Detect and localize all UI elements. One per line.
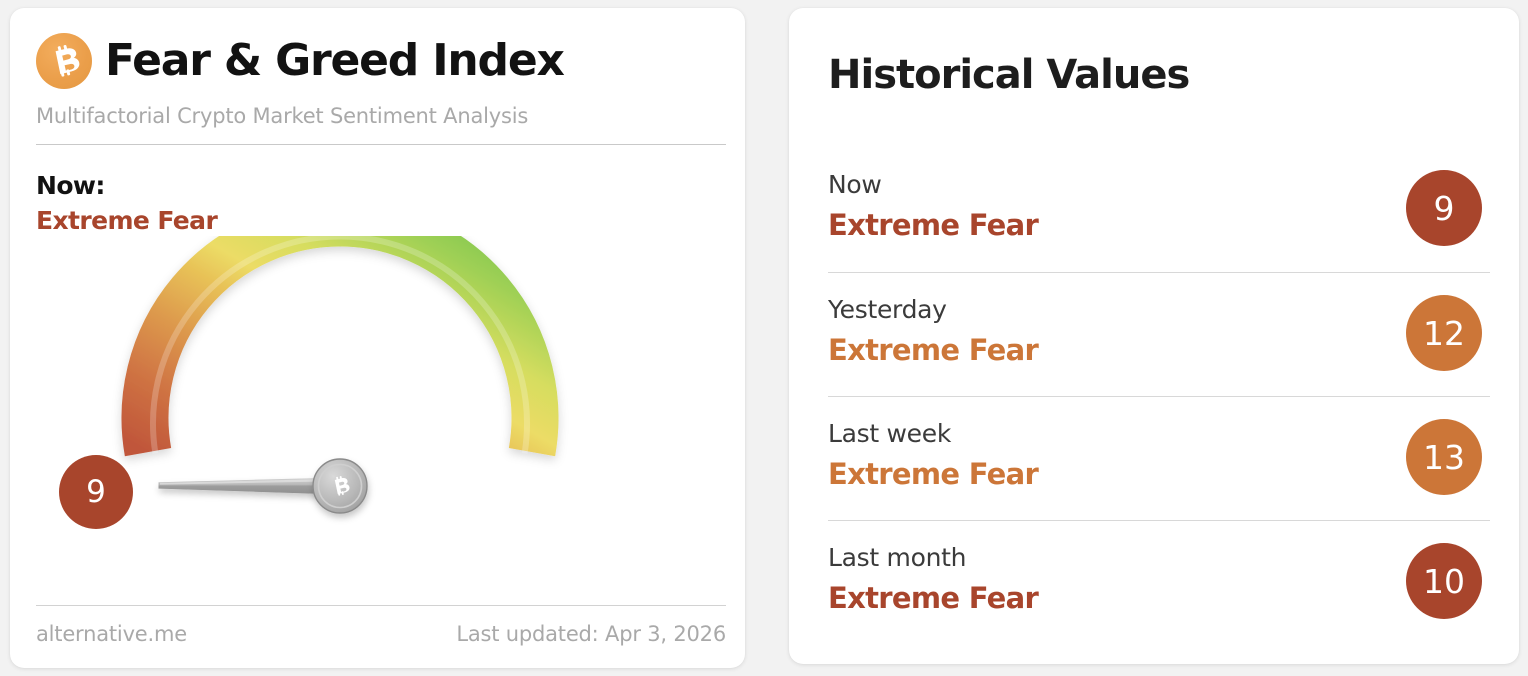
- status-badge: 10: [1406, 543, 1482, 619]
- list-item-text: Now Extreme Fear: [828, 170, 1038, 242]
- status-badge: 9: [1406, 170, 1482, 246]
- gauge-hub-bitcoin-icon: [313, 459, 367, 513]
- list-item[interactable]: Yesterday Extreme Fear 12: [828, 272, 1490, 396]
- list-item-period: Now: [828, 170, 1038, 199]
- historical-values-title: Historical Values: [828, 52, 1189, 98]
- list-item[interactable]: Last week Extreme Fear 13: [828, 396, 1490, 520]
- now-label: Now:: [36, 171, 217, 200]
- historical-values-list: Now Extreme Fear 9 Yesterday Extreme Fea…: [828, 148, 1490, 644]
- bitcoin-icon: [36, 33, 92, 89]
- status-badge: 12: [1406, 295, 1482, 371]
- list-item-period: Last month: [828, 543, 1038, 572]
- historical-values-card: Historical Values Now Extreme Fear 9 Yes…: [789, 8, 1519, 664]
- gauge-value-badge-label: 9: [86, 474, 106, 510]
- list-item[interactable]: Last month Extreme Fear 10: [828, 520, 1490, 644]
- footer-row: alternative.me Last updated: Apr 3, 2026: [36, 622, 726, 646]
- list-item-classification: Extreme Fear: [828, 333, 1038, 367]
- gauge-value-badge: 9: [59, 455, 133, 529]
- now-classification: Extreme Fear: [36, 206, 217, 235]
- list-item[interactable]: Now Extreme Fear 9: [828, 148, 1490, 272]
- status-badge-value: 9: [1434, 189, 1455, 228]
- list-item-classification: Extreme Fear: [828, 457, 1038, 491]
- gauge-card: Fear & Greed Index Multifactorial Crypto…: [10, 8, 745, 668]
- gauge-card-footer: alternative.me Last updated: Apr 3, 2026: [36, 605, 726, 646]
- status-badge-value: 13: [1423, 438, 1465, 477]
- list-item-period: Last week: [828, 419, 1038, 448]
- footer-divider: [36, 605, 726, 606]
- status-badge: 13: [1406, 419, 1482, 495]
- current-reading: Now: Extreme Fear: [36, 171, 217, 235]
- gauge-arc: [145, 236, 535, 452]
- list-item-classification: Extreme Fear: [828, 208, 1038, 242]
- list-item-text: Last month Extreme Fear: [828, 543, 1038, 615]
- gauge-card-header: Fear & Greed Index Multifactorial Crypto…: [36, 30, 726, 145]
- source-link[interactable]: alternative.me: [36, 622, 187, 646]
- gauge-meter: [40, 236, 720, 586]
- page-subtitle: Multifactorial Crypto Market Sentiment A…: [36, 104, 726, 128]
- title-row: Fear & Greed Index: [36, 30, 726, 92]
- header-divider: [36, 144, 726, 145]
- fear-greed-dashboard: Fear & Greed Index Multifactorial Crypto…: [0, 0, 1528, 676]
- status-badge-value: 10: [1423, 562, 1465, 601]
- last-updated-label: Last updated: Apr 3, 2026: [456, 622, 726, 646]
- list-item-period: Yesterday: [828, 295, 1038, 324]
- list-item-text: Yesterday Extreme Fear: [828, 295, 1038, 367]
- list-item-text: Last week Extreme Fear: [828, 419, 1038, 491]
- status-badge-value: 12: [1423, 314, 1465, 353]
- list-item-classification: Extreme Fear: [828, 581, 1038, 615]
- page-title: Fear & Greed Index: [105, 39, 564, 83]
